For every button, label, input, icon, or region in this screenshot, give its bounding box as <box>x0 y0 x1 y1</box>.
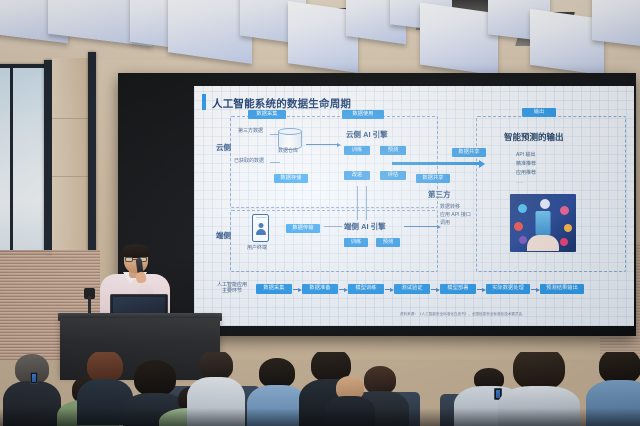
pipeline-arrow <box>431 289 437 290</box>
third-party-item-1: 应用 API 接口 <box>440 212 471 219</box>
third-party-title: 第三方 <box>428 190 451 200</box>
section-header-output: 输出 <box>522 108 556 117</box>
pipeline-step-2: 模型训练 <box>348 284 384 294</box>
phone-status-bar <box>256 217 267 218</box>
label-acquired-data: 已获取的数据 <box>234 158 264 165</box>
presentation-slide: 人工智能系统的数据生命周期 数据采集 数据使用 输出 云侧 端侧 第三方数据 已… <box>194 86 634 326</box>
pipeline-arrow <box>293 289 299 290</box>
wall-seam <box>52 118 90 119</box>
window-glass <box>0 68 48 250</box>
box-data-sharing-bottom: 数据共享 <box>416 174 450 183</box>
audience-shoulders <box>247 385 307 426</box>
app-icon-dot <box>564 224 572 232</box>
app-icon-dot <box>514 222 523 231</box>
cloud-ai-engine-title: 云侧 AI 引擎 <box>346 130 388 140</box>
window-frame-far <box>88 52 96 252</box>
cylinder-top <box>278 128 302 135</box>
audience-head <box>87 352 123 382</box>
device-engine-box-train: 训练 <box>344 238 368 247</box>
cloud-engine-box-train: 训练 <box>344 146 370 155</box>
audience-member <box>188 352 244 426</box>
output-item-0: API 输出 <box>516 152 535 159</box>
cloud-engine-box-evaluate: 评估 <box>380 171 406 180</box>
connector-line <box>366 186 367 220</box>
audience-member <box>500 352 578 426</box>
audience-member <box>4 354 60 426</box>
illustration-phone <box>536 211 551 235</box>
device-ai-engine-title: 端侧 AI 引擎 <box>344 222 386 232</box>
audience-shoulders <box>3 381 61 426</box>
connector-line <box>324 226 342 227</box>
audience-head <box>199 352 233 380</box>
side-label-cloud: 云侧 <box>216 144 224 152</box>
conference-photo: 人工智能系统的数据生命周期 数据采集 数据使用 输出 云侧 端侧 第三方数据 已… <box>0 0 640 426</box>
audience-shoulders <box>325 396 375 426</box>
app-icon-dot <box>540 199 550 209</box>
title-accent-rule <box>202 94 206 110</box>
output-item-2: 应用推荐 <box>516 170 536 177</box>
box-data-storage: 数据存储 <box>274 174 308 183</box>
app-icon-dot <box>519 236 527 244</box>
connector-line <box>270 162 280 163</box>
side-label-device: 端侧 <box>216 232 224 240</box>
output-heading: 智能预测的输出 <box>504 132 564 143</box>
audience-head <box>513 352 565 390</box>
label-third-party-data: 第三方数据 <box>238 128 263 135</box>
box-data-sharing-top: 数据共享 <box>452 148 486 157</box>
user-terminal-phone-icon <box>252 214 269 242</box>
phone-user-head <box>258 223 263 228</box>
label-data-warehouse: 数据仓库 <box>278 148 298 155</box>
audience-shoulders <box>187 377 245 426</box>
projection-screen: 人工智能系统的数据生命周期 数据采集 数据使用 输出 云侧 端侧 第三方数据 已… <box>118 73 636 336</box>
app-icon-dot <box>560 238 568 246</box>
cloud-engine-box-improve: 改进 <box>344 171 370 180</box>
third-party-item-0: 数据转移 <box>440 204 460 211</box>
pipeline-arrow <box>339 289 345 290</box>
connector-arrow <box>306 144 338 145</box>
app-icon-dot <box>518 204 527 213</box>
wall-seam <box>52 176 90 177</box>
pipeline-step-1: 数据准备 <box>302 284 338 294</box>
pipeline-arrow <box>385 289 391 290</box>
pipeline-arrow <box>531 289 537 290</box>
section-header-collect: 数据采集 <box>248 110 286 119</box>
audience-phone-screen <box>32 374 36 382</box>
audience-head <box>259 358 295 388</box>
audience-shoulders <box>498 386 580 426</box>
app-icon-dot <box>560 206 569 215</box>
pipeline-step-6: 预测结果输出 <box>540 284 584 294</box>
connector-line <box>357 186 358 220</box>
audience-shoulders <box>586 380 640 426</box>
output-item-1: 精准推荐 <box>516 161 536 168</box>
pipeline-arrow <box>477 289 483 290</box>
pipeline-step-0: 数据采集 <box>256 284 292 294</box>
pipeline-row-label: 人工智能应用 主要环节 <box>212 282 252 295</box>
box-data-transmission: 数据传输 <box>286 224 320 233</box>
main-flow-arrow <box>392 162 480 165</box>
phone-user-body <box>256 229 266 235</box>
data-warehouse-cylinder <box>278 128 302 150</box>
pipeline-step-4: 模型部署 <box>440 284 476 294</box>
phone-illustration <box>510 194 576 252</box>
third-party-item-2: 调用 <box>440 220 450 227</box>
section-header-use: 数据使用 <box>342 110 384 119</box>
slide-title: 人工智能系统的数据生命周期 <box>212 96 351 111</box>
connector-arrow <box>404 226 438 227</box>
pipeline-step-5: 实际数据处理 <box>486 284 530 294</box>
audience-member <box>326 376 374 426</box>
label-user-terminal: 用户终端 <box>247 245 267 252</box>
audience-phone <box>30 372 38 384</box>
audience-member <box>588 352 640 426</box>
audience-member <box>248 358 306 426</box>
window-mullion <box>10 68 13 250</box>
pipeline-step-3: 测试验证 <box>394 284 430 294</box>
connector-line <box>270 134 278 135</box>
output-item-3: ...... <box>516 179 523 185</box>
cloud-engine-box-predict: 预测 <box>380 146 406 155</box>
pipeline-row-label-l2: 主要环节 <box>222 288 242 294</box>
device-engine-box-predict: 预测 <box>376 238 400 247</box>
eyeglasses-left-lens <box>125 257 133 262</box>
slide-citation: 资料来源：《人工智能安全标准化白皮书》，全国信息安全标准化技术委员会 <box>400 312 522 317</box>
wall-pillar <box>52 58 90 256</box>
audience <box>0 352 640 426</box>
presenter-hair <box>122 244 150 258</box>
illustration-hands <box>527 235 559 251</box>
